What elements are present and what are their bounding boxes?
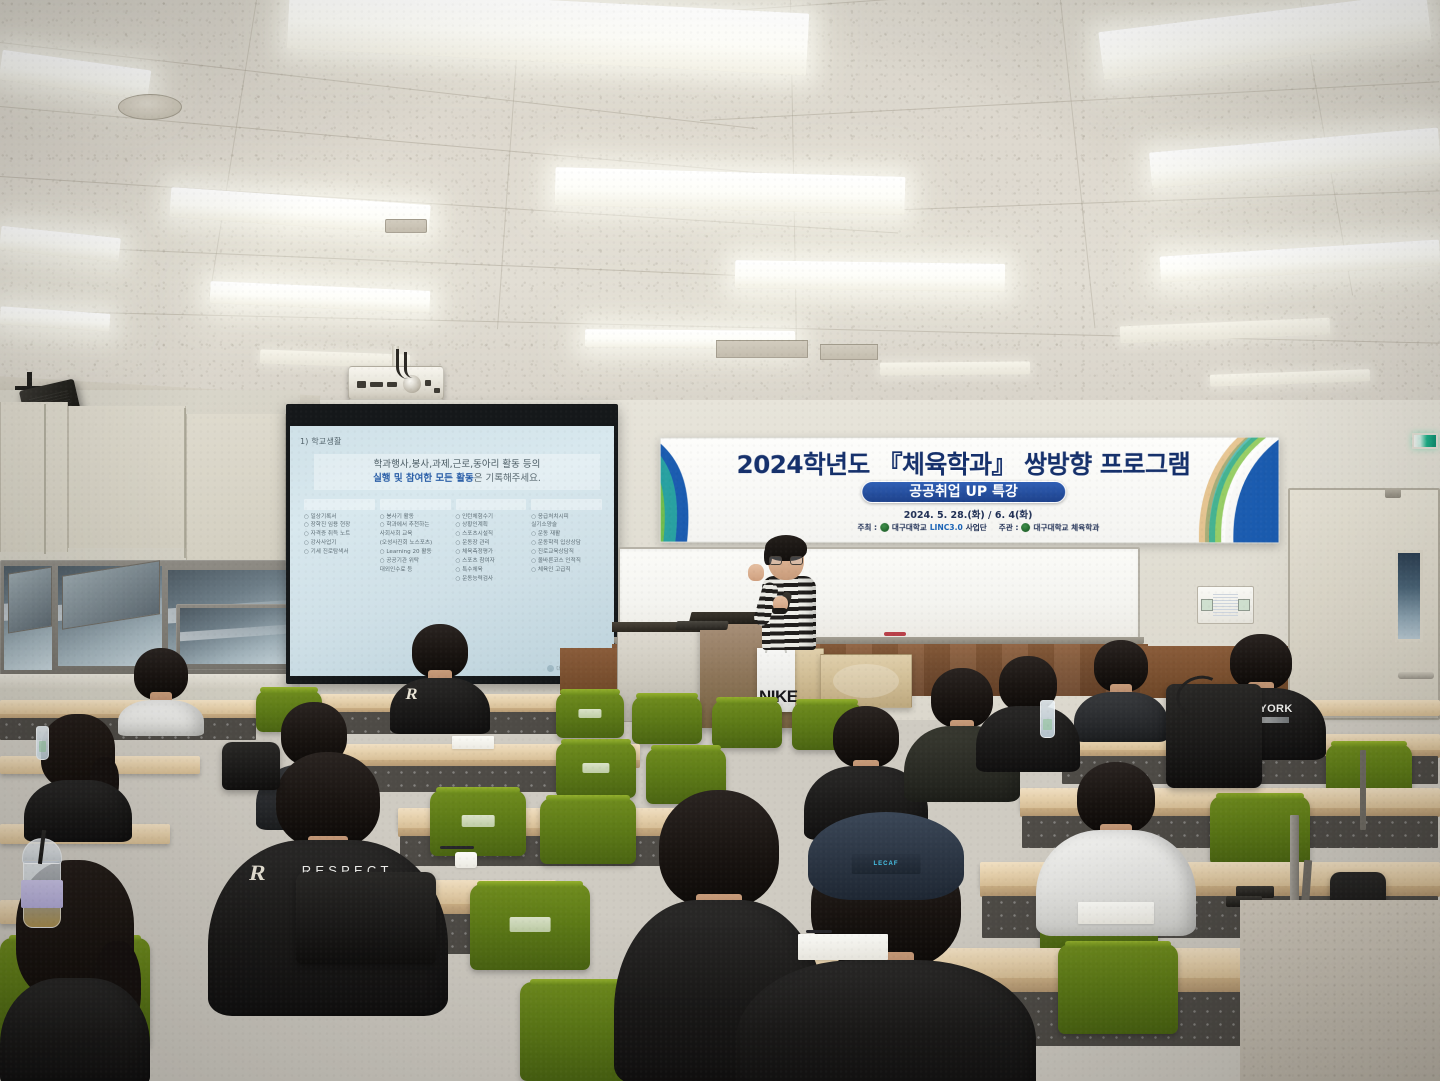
- water-bottle: [36, 726, 49, 760]
- whiteboard-marker[interactable]: [884, 632, 906, 636]
- slide-list-item: ○ Learning 20 활동: [380, 548, 451, 557]
- student-head: [833, 706, 899, 768]
- slide-callout-line2: 실행 및 참여한 모든 활동은 기록해주세요.: [318, 472, 596, 486]
- slide-column-list: ○ 일상기록서 ○ 장학진 임용 현장 ○ 자격증 취득 노트 ○ 강사사업기 …: [304, 513, 375, 558]
- student-torso: [0, 978, 150, 1081]
- student-hair: [41, 714, 115, 788]
- projector-cable: [404, 352, 413, 378]
- banner-title: 2024학년도 『체육학과』 쌍방향 프로그램: [704, 445, 1224, 481]
- backpack: [222, 742, 280, 790]
- wristwatch: [772, 608, 787, 614]
- chair-brand-tag: [578, 709, 601, 717]
- ceiling-vent: [820, 344, 878, 360]
- slide-column-header: [304, 499, 375, 510]
- slide-list-item: ○ 일상기록서: [304, 513, 375, 522]
- door-viewing-window: [1395, 550, 1423, 642]
- classroom-chair[interactable]: [556, 692, 624, 738]
- door-closer: [1385, 488, 1401, 498]
- presenter-raised-hand: [748, 564, 764, 581]
- slide-column-list: ○ 봉사기 활동 ○ 학과에서 추천하는 사회사회 교육 (오성사진회 노스포츠…: [380, 513, 451, 576]
- cap-adjuster-strap: LECAF: [852, 854, 921, 873]
- slide-callout: 학과행사,봉사,과제,근로,동아리 활동 등의 실행 및 참여한 모든 활동은 …: [314, 454, 600, 490]
- slide-list-item: (오성사진회 노스포츠): [380, 539, 451, 548]
- slide-list-item: ○ 체육인 고급직: [531, 566, 602, 575]
- slide-list-item: ○ 봉사기 활동: [380, 513, 451, 522]
- cap-brand-text: LECAF: [874, 861, 899, 867]
- banner-host-program: LINC3.0: [930, 523, 963, 532]
- slide-column: ○ 일상기록서 ○ 장학진 임용 현장 ○ 자격증 취득 노트 ○ 강사사업기 …: [304, 499, 375, 585]
- desk-item: [455, 852, 477, 868]
- ceiling: [0, 0, 1440, 430]
- banner-host-suffix: 사업단: [966, 522, 987, 533]
- laptop-on-lectern[interactable]: [675, 621, 729, 630]
- handout-paper: [798, 934, 888, 960]
- slide-list-item: ○ 스포츠시설직: [456, 530, 527, 539]
- slide-list-item: ○ 인턴체험수기: [456, 513, 527, 522]
- slide-column-header: [380, 499, 451, 510]
- presenter: [742, 538, 828, 650]
- slide-list-item: ○ 스포츠 참여자: [456, 557, 527, 566]
- banner-organizer: 주관 : 대구대학교 체육학과: [999, 522, 1100, 533]
- university-emblem-icon: [880, 523, 889, 532]
- slide-logo-mark: [547, 665, 554, 672]
- slide-callout-strong: 실행 및 참여한 모든 활동: [373, 473, 474, 484]
- chair-brand-tag: [582, 763, 609, 773]
- slide-list-item: ○ 특수체육: [456, 566, 527, 575]
- handout-paper: [452, 736, 494, 749]
- slide-list-item: ○ 올바른코스 인적직: [531, 557, 602, 566]
- box-print-label: [833, 664, 899, 698]
- slide-list-item: 대외인수료 등: [380, 566, 451, 575]
- slide-list-item: 실기소양술: [531, 521, 602, 530]
- slide-column: ○ 응급처치시피 실기소양술 ○ 운동 재활 ○ 운동학적 입상상담 ○ 진로교…: [531, 499, 602, 585]
- slide-column-header: [456, 499, 527, 510]
- banner-host-name: 대구대학교: [892, 522, 927, 533]
- student-head: [276, 752, 380, 848]
- slide-list-item: ○ 강사사업기: [304, 539, 375, 548]
- projector-port: [387, 382, 397, 387]
- window-roller-blind: [0, 402, 68, 552]
- slide-callout-line1: 학과행사,봉사,과제,근로,동아리 활동 등의: [318, 458, 596, 472]
- ceiling-vent: [716, 340, 808, 358]
- projector-port: [434, 388, 440, 393]
- slide-list-item: ○ 진로교육상담직: [531, 548, 602, 557]
- banner-host-label: 주최 :: [857, 522, 877, 533]
- window-open-sash[interactable]: [8, 567, 52, 634]
- slide-list-item: ○ 상황인계획: [456, 521, 527, 530]
- projector-port: [357, 381, 366, 388]
- eyeglasses-icon: [769, 556, 803, 565]
- slide-column-list: ○ 인턴체험수기 ○ 상황인계획 ○ 스포츠시설직 ○ 운동장 관리 ○ 체육측…: [456, 513, 527, 585]
- slide-column-list: ○ 응급처치시피 실기소양술 ○ 운동 재활 ○ 운동학적 입상상담 ○ 진로교…: [531, 513, 602, 576]
- student-torso: [390, 678, 490, 734]
- classroom-chair[interactable]: [712, 700, 782, 748]
- slide-list-item: ○ 운동장 관리: [456, 539, 527, 548]
- banner-host: 주최 : 대구대학교 LINC3.0 사업단: [857, 522, 986, 533]
- slide-column: ○ 인턴체험수기 ○ 상황인계획 ○ 스포츠시설직 ○ 운동장 관리 ○ 체육측…: [456, 499, 527, 585]
- pen[interactable]: [806, 930, 832, 933]
- door-handle[interactable]: [1398, 672, 1434, 679]
- blind-pull-cord[interactable]: [184, 408, 186, 558]
- classroom-chair[interactable]: [1058, 944, 1178, 1034]
- banner-organizer-name: 대구대학교 체육학과: [1033, 522, 1099, 533]
- slide-column-header: [531, 499, 602, 510]
- student-back-row: [1074, 640, 1168, 736]
- student-torso: [1074, 692, 1168, 742]
- window-roller-blind: [68, 406, 186, 548]
- slide-list-item: ○ 학과에서 추천하는: [380, 521, 451, 530]
- ceiling-light-panel: [735, 260, 1005, 292]
- chair-brand-tag: [510, 917, 551, 932]
- lecture-hall-photo: 1) 학교생활 학과행사,봉사,과제,근로,동아리 활동 등의 실행 및 참여한…: [0, 0, 1440, 1081]
- control-panel-label: [1213, 594, 1238, 616]
- student-torso: [24, 780, 132, 842]
- control-panel-switch[interactable]: [1201, 599, 1213, 611]
- slide-list-item: ○ 공공기관 위탁: [380, 557, 451, 566]
- slide-callout-rest: 은 기록해주세요.: [474, 473, 541, 484]
- handout-paper: [1078, 902, 1154, 924]
- slide-column: ○ 봉사기 활동 ○ 학과에서 추천하는 사회사회 교육 (오성사진회 노스포츠…: [380, 499, 451, 585]
- student-mid-row: [976, 656, 1080, 776]
- blind-pull-cord[interactable]: [44, 404, 46, 554]
- ceiling-speaker: [118, 94, 182, 120]
- student-back-row: R: [390, 624, 490, 724]
- student-desk: [1310, 700, 1440, 716]
- projector-port: [370, 382, 383, 387]
- baseball-cap: LECAF: [808, 812, 964, 900]
- water-bottle: [1040, 700, 1055, 738]
- banner-organizers: 주최 : 대구대학교 LINC3.0 사업단 주관 : 대구대학교 체육학과: [799, 522, 1159, 533]
- slide-list-item: ○ 기세 진로탐색서: [304, 548, 375, 557]
- classroom-chair[interactable]: [632, 696, 702, 744]
- slide-columns: ○ 일상기록서 ○ 장학진 임용 현장 ○ 자격증 취득 노트 ○ 강사사업기 …: [300, 499, 606, 585]
- slide-list-item: 사회사회 교육: [380, 530, 451, 539]
- emergency-exit-sign: [1412, 433, 1438, 449]
- projector-port: [425, 380, 431, 386]
- slide-list-item: ○ 체육측정평가: [456, 548, 527, 557]
- slide-list-item: ○ 운동학적 입상상담: [531, 539, 602, 548]
- ceiling-vent: [385, 219, 427, 233]
- wall-control-panel[interactable]: [1197, 586, 1254, 624]
- control-panel-switch[interactable]: [1238, 599, 1250, 611]
- classroom-chair[interactable]: [470, 884, 590, 970]
- university-emblem-icon: [1021, 523, 1030, 532]
- slide-list-item: ○ 장학진 임용 현장: [304, 521, 375, 530]
- slide-list-item: ○ 운동능력검사: [456, 575, 527, 584]
- banner-date: 2024. 5. 28.(화) / 6. 4(화): [848, 507, 1088, 521]
- banner-subtitle: 공공취업 UP 특강: [861, 481, 1066, 503]
- cup-sleeve: [21, 880, 63, 908]
- student-torso: [736, 960, 1036, 1081]
- slide-list-item: ○ 자격증 취득 노트: [304, 530, 375, 539]
- classroom-floor: [1240, 900, 1440, 1081]
- ceiling-light-panel: [880, 361, 1030, 375]
- chair-brand-tag: [462, 815, 495, 827]
- banner-organizer-label: 주관 :: [999, 522, 1019, 533]
- backpack: [296, 872, 436, 964]
- iced-beverage-cup: [20, 838, 64, 930]
- event-banner: 2024학년도 『체육학과』 쌍방향 프로그램 공공취업 UP 특강 2024.…: [660, 437, 1280, 544]
- slide-list-item: ○ 응급처치시피: [531, 513, 602, 522]
- chair-leg: [1360, 750, 1366, 830]
- slide-heading: 1) 학교생활: [300, 436, 606, 447]
- window-roller-blind: [186, 414, 286, 564]
- pen[interactable]: [440, 846, 474, 849]
- slide-list-item: ○ 운동 재활: [531, 530, 602, 539]
